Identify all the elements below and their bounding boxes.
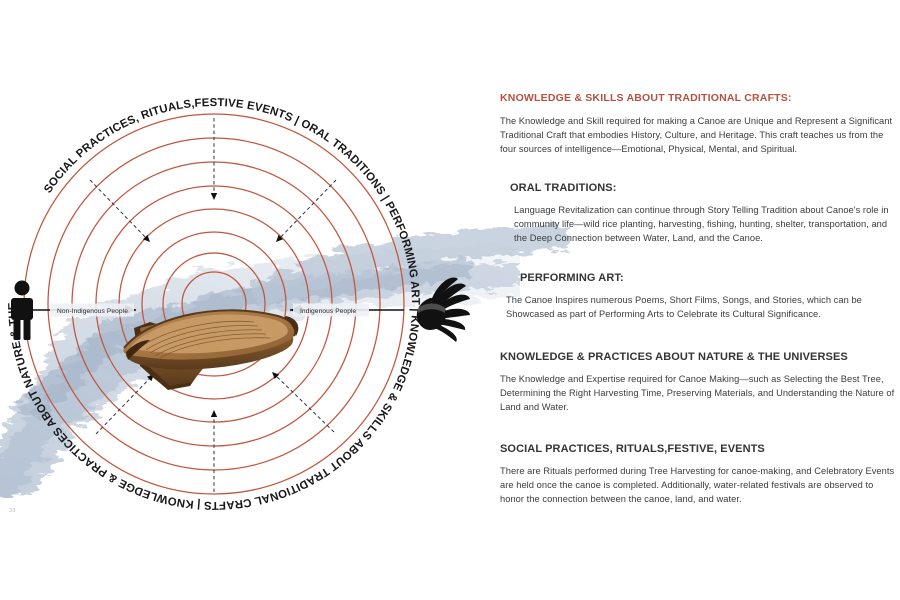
indigenous-arrow: Indigenous People (290, 304, 404, 317)
section-heading: ORAL TRADITIONS: (510, 182, 900, 195)
headdress-person-icon (417, 278, 470, 342)
page-number: 33 (9, 508, 16, 514)
non-indigenous-label: Non-Indigenous People (57, 308, 128, 315)
section-heading: SOCIAL PRACTICES, RITUALS,FESTIVE, EVENT… (500, 443, 900, 456)
section-body: There are Rituals performed during Tree … (500, 464, 900, 506)
section-heading: PERFORMING ART: (506, 272, 900, 285)
content-column: KNOWLEDGE & SKILLS ABOUT TRADITIONAL CRA… (500, 92, 900, 508)
section-oral-traditions: ORAL TRADITIONS: Language Revitalization… (500, 182, 900, 246)
person-standing-icon (11, 281, 33, 341)
non-indigenous-arrow: Non-Indigenous People (26, 304, 136, 317)
section-heading: KNOWLEDGE & SKILLS ABOUT TRADITIONAL CRA… (500, 92, 900, 105)
section-body: Language Revitalization can continue thr… (510, 203, 900, 245)
section-traditional-crafts: KNOWLEDGE & SKILLS ABOUT TRADITIONAL CRA… (500, 92, 900, 156)
section-nature-universes: KNOWLEDGE & PRACTICES ABOUT NATURE & THE… (500, 351, 900, 415)
section-body: The Knowledge and Skill required for mak… (500, 114, 900, 156)
indigenous-label: Indigenous People (300, 308, 357, 315)
section-performing-art: PERFORMING ART: The Canoe Inspires numer… (500, 272, 900, 321)
section-heading: KNOWLEDGE & PRACTICES ABOUT NATURE & THE… (500, 351, 900, 364)
section-social-practices: SOCIAL PRACTICES, RITUALS,FESTIVE, EVENT… (500, 443, 900, 507)
radial-curved-label: SOCIAL PRACTICES, RITUALS,FESTIVE EVENTS… (0, 60, 421, 511)
page-canvas: SOCIAL PRACTICES, RITUALS,FESTIVE EVENTS… (0, 0, 900, 600)
section-body: The Knowledge and Expertise required for… (500, 372, 900, 414)
canoe-radial-diagram: SOCIAL PRACTICES, RITUALS,FESTIVE EVENTS… (0, 60, 470, 540)
section-body: The Canoe Inspires numerous Poems, Short… (506, 293, 900, 321)
